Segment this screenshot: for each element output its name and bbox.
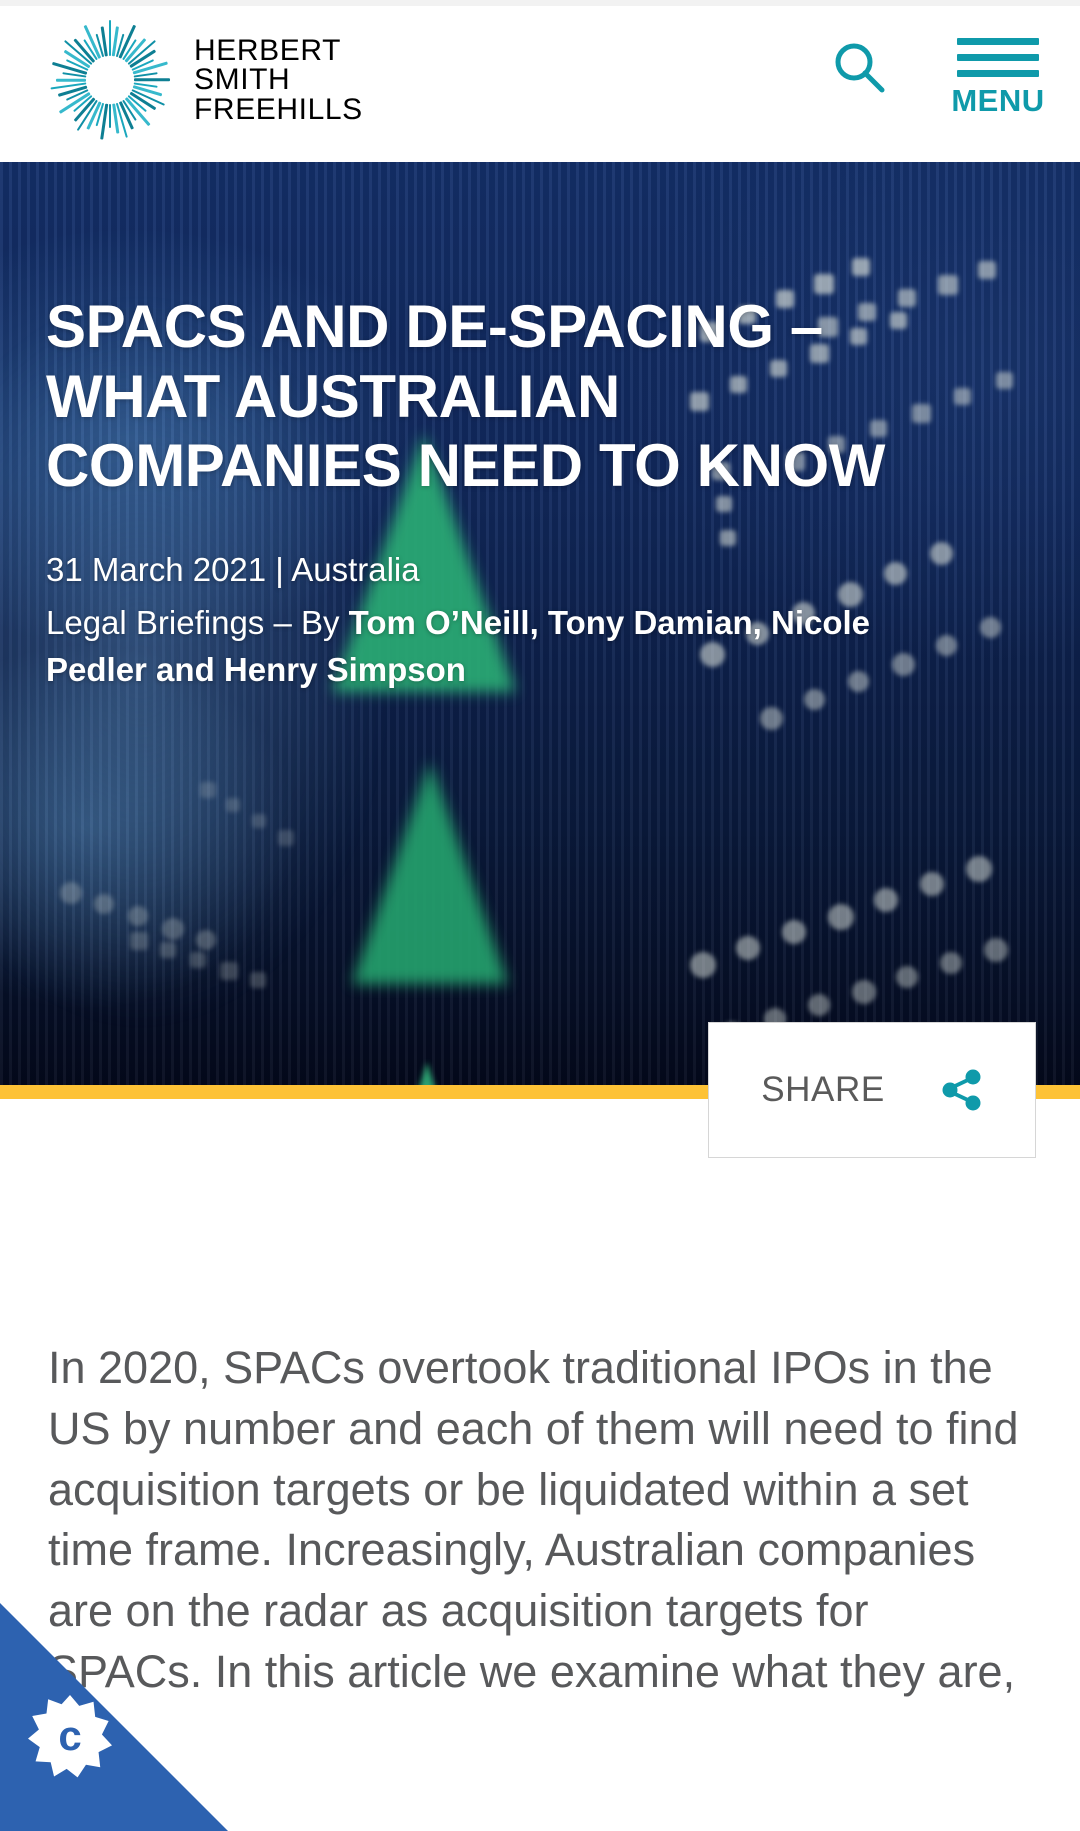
page-title: SPACS AND DE-SPACING – WHAT AUSTRALIAN C… <box>46 292 946 501</box>
share-label: SHARE <box>761 1070 885 1110</box>
brand-line-3: FREEHILLS <box>194 95 363 124</box>
brand-line-1: HERBERT <box>194 36 363 65</box>
hero-meta: 31 March 2021 | Australia Legal Briefing… <box>46 547 946 694</box>
brand-line-2: SMITH <box>194 65 363 94</box>
cookie-consent-letter: c <box>58 1715 81 1757</box>
header-actions: MENU <box>830 28 1046 119</box>
hamburger-menu-icon <box>957 38 1039 77</box>
site-header: HERBERT SMITH FREEHILLS MENU <box>0 6 1080 162</box>
share-button[interactable]: SHARE <box>708 1022 1036 1158</box>
article-byline: Legal Briefings – By Tom O’Neill, Tony D… <box>46 600 946 694</box>
hero-banner: SPACS AND DE-SPACING – WHAT AUSTRALIAN C… <box>0 162 1080 1085</box>
brand-wordmark: HERBERT SMITH FREEHILLS <box>194 36 363 124</box>
site-logo-link[interactable]: HERBERT SMITH FREEHILLS <box>48 26 363 134</box>
search-icon[interactable] <box>830 38 888 96</box>
hero-green-triangle-medium <box>352 762 508 984</box>
article-date-region: 31 March 2021 | Australia <box>46 547 946 594</box>
hero-content: SPACS AND DE-SPACING – WHAT AUSTRALIAN C… <box>46 292 946 693</box>
share-nodes-icon <box>941 1069 983 1111</box>
hamburger-menu-button[interactable]: MENU <box>950 28 1046 119</box>
byline-prefix: Legal Briefings – By <box>46 604 349 641</box>
cookie-consent-badge[interactable]: c <box>0 1591 240 1831</box>
menu-label: MENU <box>951 83 1044 119</box>
hero-green-triangle-small <box>405 1062 449 1085</box>
herbert-smith-freehills-sunburst-logo <box>48 26 172 134</box>
